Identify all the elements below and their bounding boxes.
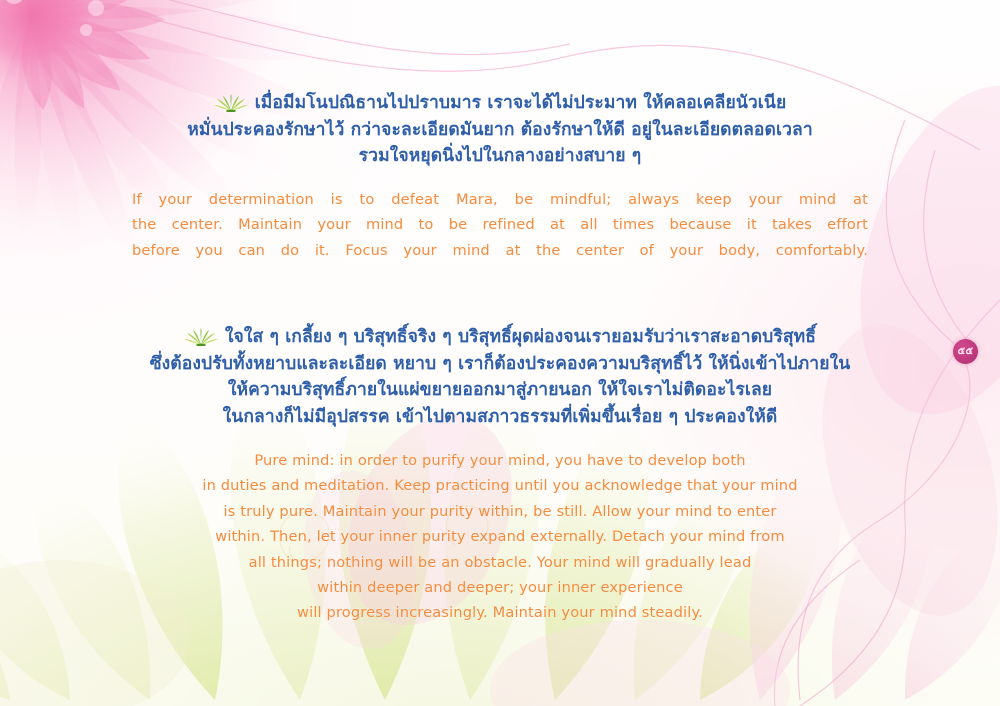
lotus-bullet-icon bbox=[214, 93, 248, 112]
english-line-text: is truly pure. Maintain your purity with… bbox=[0, 499, 1000, 524]
thai-line-text: เมื่อมีมโนปณิธานไปปราบมาร เราจะได้ไม่ประ… bbox=[255, 93, 787, 113]
lotus-bullet-icon bbox=[184, 327, 218, 346]
thai-line: เมื่อมีมโนปณิธานไปปราบมาร เราจะได้ไม่ประ… bbox=[0, 90, 1000, 117]
english-line-text: will progress increasingly. Maintain you… bbox=[0, 600, 1000, 625]
book-page: เมื่อมีมโนปณิธานไปปราบมาร เราจะได้ไม่ประ… bbox=[0, 0, 1000, 706]
english-passage-2: Pure mind: in order to purify your mind,… bbox=[0, 448, 1000, 626]
english-line-text: within deeper and deeper; your inner exp… bbox=[0, 575, 1000, 600]
thai-line-text: ซึ่งต้องปรับทั้งหยาบและละเอียด หยาบ ๆ เร… bbox=[0, 351, 1000, 378]
english-line-text: in duties and meditation. Keep practicin… bbox=[0, 473, 1000, 498]
english-passage-1: If your determination is to defeat Mara,… bbox=[0, 187, 1000, 263]
thai-line-text: หมั่นประคองรักษาไว้ กว่าจะละเอียดมันยาก … bbox=[0, 117, 1000, 144]
thai-line-text: ในกลางก็ไม่มีอุปสรรค เข้าไปตามสภาวธรรมที… bbox=[0, 404, 1000, 431]
english-line-text: all things; nothing will be an obstacle.… bbox=[0, 550, 1000, 575]
english-line-text: Pure mind: in order to purify your mind,… bbox=[0, 448, 1000, 473]
english-line-text: the center. Maintain your mind to be ref… bbox=[132, 212, 868, 237]
english-line-text: before you can do it. Focus your mind at… bbox=[132, 238, 868, 263]
english-line-text: within. Then, let your inner purity expa… bbox=[0, 524, 1000, 549]
thai-line-text: ใจใส ๆ เกลี้ยง ๆ บริสุทธิ์จริง ๆ บริสุทธ… bbox=[225, 327, 816, 347]
thai-passage-1: เมื่อมีมโนปณิธานไปปราบมาร เราจะได้ไม่ประ… bbox=[0, 90, 1000, 170]
thai-line-text: รวมใจหยุดนิ่งไปในกลางอย่างสบาย ๆ bbox=[0, 143, 1000, 170]
english-line-text: If your determination is to defeat Mara,… bbox=[132, 187, 868, 212]
page-number-badge: ๕๕ bbox=[953, 339, 978, 364]
thai-line-text: ให้ความบริสุทธิ์ภายในแผ่ขยายออกมาสู่ภายน… bbox=[0, 377, 1000, 404]
thai-line: ใจใส ๆ เกลี้ยง ๆ บริสุทธิ์จริง ๆ บริสุทธ… bbox=[0, 324, 1000, 351]
thai-passage-2: ใจใส ๆ เกลี้ยง ๆ บริสุทธิ์จริง ๆ บริสุทธ… bbox=[0, 324, 1000, 430]
